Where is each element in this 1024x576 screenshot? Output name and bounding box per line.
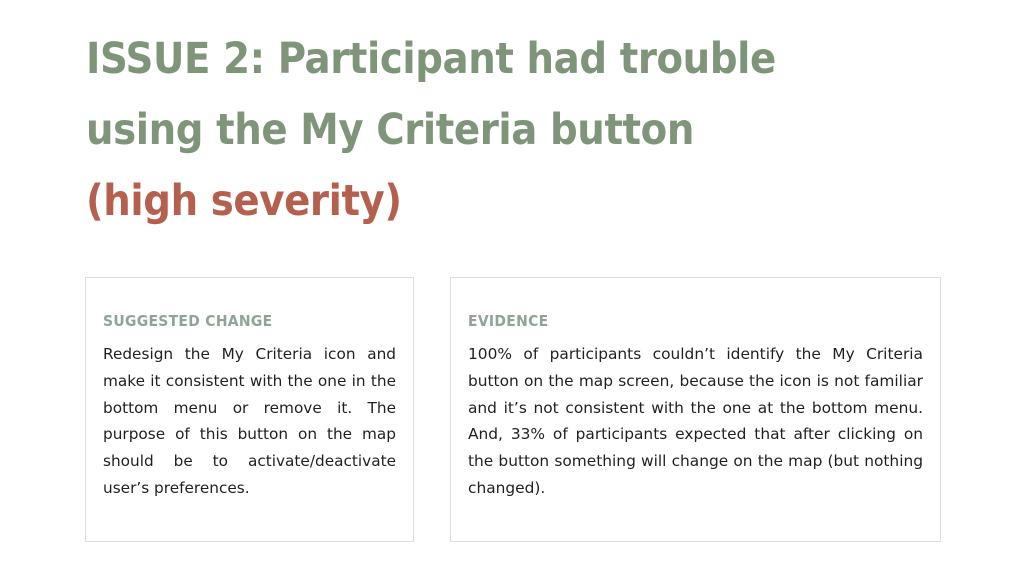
card-evidence-label: EVIDENCE: [468, 312, 923, 330]
card-evidence-body: 100% of participants couldn’t identify t…: [468, 341, 923, 502]
card-evidence: EVIDENCE 100% of participants couldn’t i…: [450, 277, 941, 542]
title-line-3-severity: (high severity): [86, 166, 966, 237]
card-evidence-inner: EVIDENCE 100% of participants couldn’t i…: [451, 278, 940, 502]
cards-row: SUGGESTED CHANGE Redesign the My Criteri…: [0, 277, 1024, 543]
card-suggested-change-label: SUGGESTED CHANGE: [103, 312, 396, 330]
card-suggested-change-body: Redesign the My Criteria icon and make i…: [103, 341, 396, 502]
card-suggested-change-inner: SUGGESTED CHANGE Redesign the My Criteri…: [86, 278, 413, 502]
title-line-1: ISSUE 2: Participant had trouble: [86, 24, 966, 95]
title-line-2: using the My Criteria button: [86, 95, 966, 166]
card-suggested-change: SUGGESTED CHANGE Redesign the My Criteri…: [85, 277, 414, 542]
slide-title: ISSUE 2: Participant had trouble using t…: [86, 24, 966, 237]
